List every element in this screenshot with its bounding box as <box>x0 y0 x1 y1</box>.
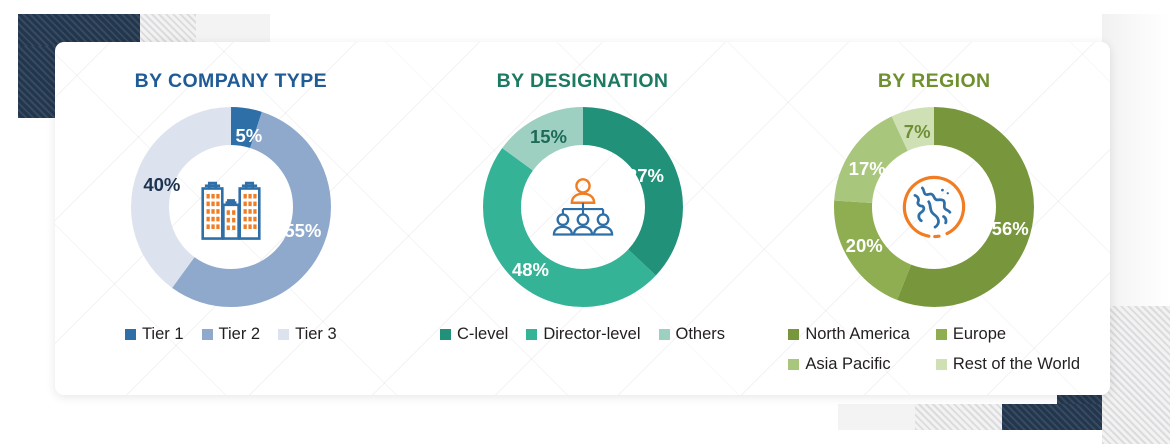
legend-swatch-director-level <box>526 329 537 340</box>
legend-label-europe: Europe <box>953 325 1006 344</box>
panel-by-designation: BY DESIGNATION 37% 48% 15% <box>407 42 759 344</box>
donut-label-tier-3: 40% <box>143 174 180 196</box>
donut-label-asia-pacific: 20% <box>846 235 883 257</box>
legend-swatch-north-america <box>788 329 799 340</box>
legend-item-europe[interactable]: Europe <box>936 325 1080 344</box>
office-buildings-icon <box>194 170 268 244</box>
legend-swatch-rest-of-world <box>936 359 947 370</box>
panel-title-region: BY REGION <box>878 70 991 93</box>
panel-by-company-type: BY COMPANY TYPE 5% 55% 40% <box>55 42 407 344</box>
legend-item-c-level[interactable]: C-level <box>440 325 508 344</box>
donut-label-north-america: 56% <box>992 218 1029 240</box>
legend-swatch-c-level <box>440 329 451 340</box>
legend-swatch-others <box>659 329 670 340</box>
legend-swatch-europe <box>936 329 947 340</box>
edge-band-right <box>1102 14 1170 306</box>
panel-title-designation: BY DESIGNATION <box>497 70 669 93</box>
legend-swatch-tier-3 <box>278 329 289 340</box>
donut-chart-region: 56% 20% 17% 7% <box>834 107 1034 307</box>
legend-swatch-tier-2 <box>202 329 213 340</box>
donut-chart-designation: 37% 48% 15% <box>483 107 683 307</box>
donut-label-c-level: 37% <box>627 165 664 187</box>
donut-label-europe: 17% <box>849 158 886 180</box>
legend-label-rest-of-world: Rest of the World <box>953 355 1080 374</box>
infographic-card: BY COMPANY TYPE 5% 55% 40% <box>55 42 1110 395</box>
donut-chart-company-type: 5% 55% 40% <box>131 107 331 307</box>
legend-item-tier-3[interactable]: Tier 3 <box>278 325 337 344</box>
globe-icon <box>897 170 971 244</box>
corner-stripe-right-grey <box>1102 306 1170 444</box>
chart-panels: BY COMPANY TYPE 5% 55% 40% <box>55 42 1110 395</box>
legend-label-tier-2: Tier 2 <box>219 325 261 344</box>
legend-label-asia-pacific: Asia Pacific <box>805 355 890 374</box>
corner-band-bottom-right-plain <box>838 404 915 430</box>
legend-label-north-america: North America <box>805 325 910 344</box>
legend-label-director-level: Director-level <box>543 325 640 344</box>
legend-region: North America Europe Asia Pacific Rest o… <box>788 325 1080 374</box>
legend-swatch-tier-1 <box>125 329 136 340</box>
legend-item-rest-of-world[interactable]: Rest of the World <box>936 355 1080 374</box>
panel-by-region: BY REGION 56% 20% 17% 7% <box>758 42 1110 374</box>
legend-label-others: Others <box>676 325 726 344</box>
corner-block-bottom-right-horizontal <box>1002 404 1102 430</box>
legend-item-director-level[interactable]: Director-level <box>526 325 640 344</box>
legend-item-asia-pacific[interactable]: Asia Pacific <box>788 355 910 374</box>
org-hierarchy-icon <box>546 170 620 244</box>
legend-item-others[interactable]: Others <box>659 325 726 344</box>
legend-swatch-asia-pacific <box>788 359 799 370</box>
legend-label-c-level: C-level <box>457 325 508 344</box>
legend-company-type: Tier 1 Tier 2 Tier 3 <box>116 325 346 344</box>
legend-item-tier-2[interactable]: Tier 2 <box>202 325 261 344</box>
legend-label-tier-3: Tier 3 <box>295 325 337 344</box>
legend-label-tier-1: Tier 1 <box>142 325 184 344</box>
legend-item-tier-1[interactable]: Tier 1 <box>125 325 184 344</box>
legend-item-north-america[interactable]: North America <box>788 325 910 344</box>
corner-stripe-bottom-right-grey <box>915 404 1002 430</box>
donut-label-tier-2: 55% <box>284 220 321 242</box>
panel-title-company-type: BY COMPANY TYPE <box>135 70 327 93</box>
donut-label-director-level: 48% <box>512 259 549 281</box>
legend-designation: C-level Director-level Others <box>431 325 734 344</box>
